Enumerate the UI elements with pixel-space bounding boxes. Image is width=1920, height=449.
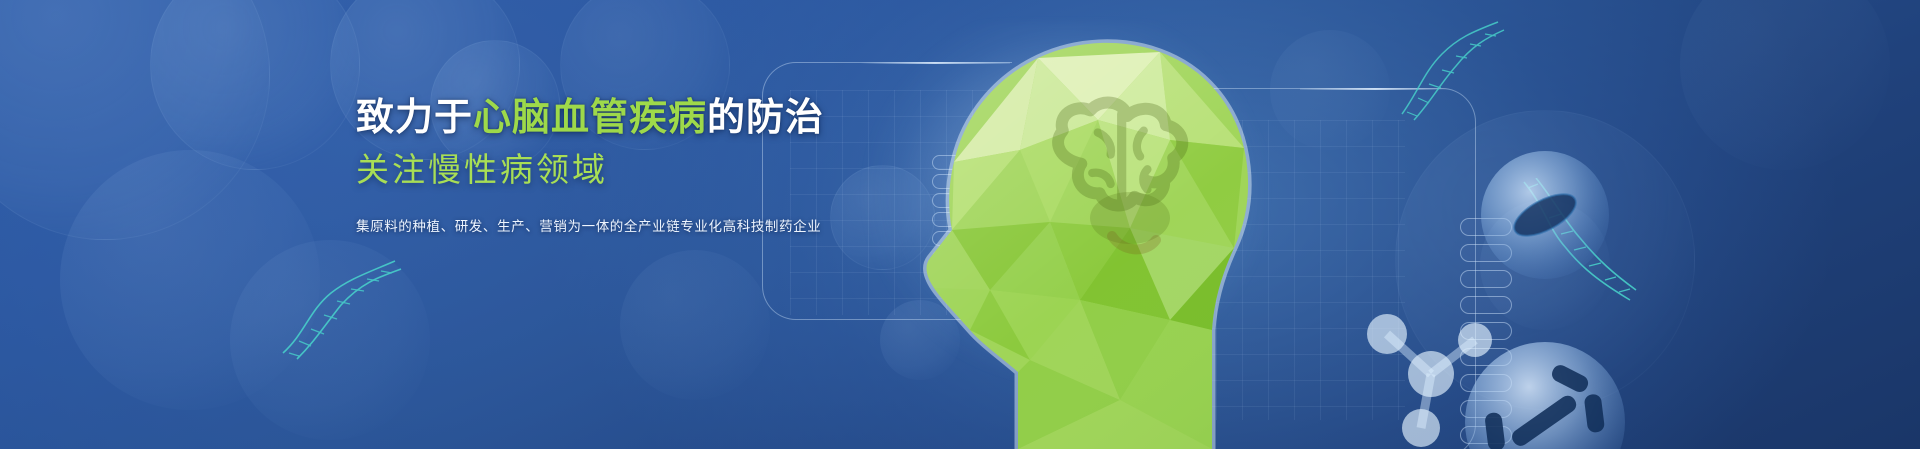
headline-accent: 心脑血管疾病 — [473, 97, 707, 139]
cell-shape-icon — [1450, 330, 1640, 449]
banner-subheadline: 关注慢性病领域 — [356, 150, 826, 190]
cell-shape-icon — [1470, 140, 1620, 290]
banner-tagline: 集原料的种植、研发、生产、营销为一体的全产业链专业化高科技制药企业 — [356, 215, 826, 235]
head-svg — [830, 0, 1390, 449]
banner-text-block: 致力于心脑血管疾病的防治 关注慢性病领域 集原料的种植、研发、生产、营销为一体的… — [356, 96, 826, 235]
dna-helix-icon — [275, 255, 405, 365]
low-poly-head-illustration — [830, 0, 1390, 449]
headline-suffix: 的防治 — [707, 97, 824, 139]
headline-prefix: 致力于 — [356, 97, 473, 139]
hero-banner: 致力于心脑血管疾病的防治 关注慢性病领域 集原料的种植、研发、生产、营销为一体的… — [0, 0, 1920, 449]
banner-headline: 致力于心脑血管疾病的防治 — [356, 96, 826, 141]
